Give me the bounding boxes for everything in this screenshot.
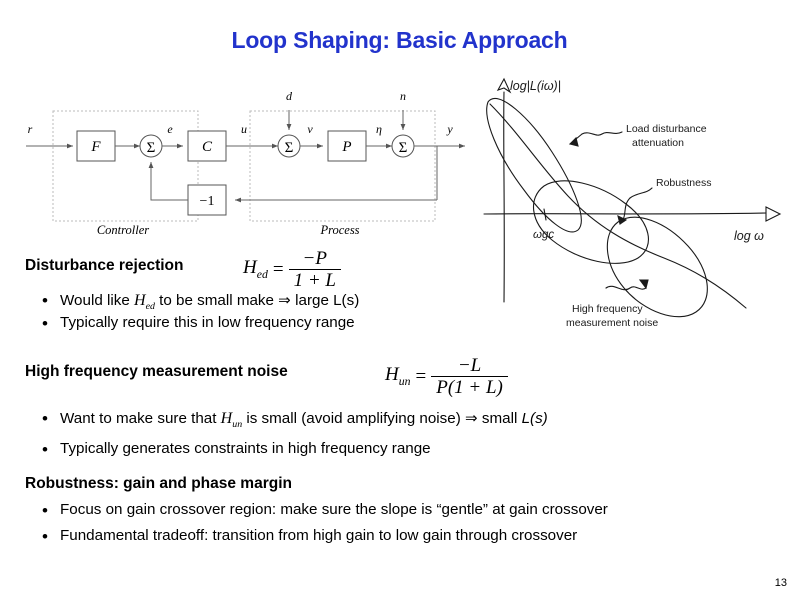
formula-h-un-lhs: Hun [385,364,411,389]
annotation-robustness: Robustness [656,177,711,189]
bullet-1-pre: Would like [60,292,134,309]
list-item-text: Focus on gain crossover region: make sur… [42,501,608,518]
formula-h-un-denominator: P(1 + L) [431,376,508,398]
signal-label-d: d [286,89,293,103]
signal-label-eta: η [376,122,382,136]
sum-symbol-2: Σ [285,140,294,156]
signal-label-r: r [28,122,33,136]
page-number: 13 [775,577,787,589]
list-item-text: Want to make sure that Hun is small (avo… [42,409,548,430]
signal-label-n: n [400,89,406,103]
bullet-3-variable: Hun [221,410,242,427]
signal-label-y: y [446,122,453,136]
signal-label-e: e [167,122,173,136]
bode-y-axis-label: log|L(iω)| [510,79,561,93]
group-label-process: Process [319,223,359,237]
block-label-F: F [90,139,101,155]
list-item: • Typically generates constraints in hig… [42,440,431,457]
list-item-text: Typically require this in low frequency … [42,314,355,331]
list-item-text: Typically generates constraints in high … [42,440,431,457]
hand-drawn-loop-gain-sketch: log|L(iω)| log ω ωgc Load disturbance at… [478,74,796,334]
section-heading-hf-measurement-noise: High frequency measurement noise [25,363,288,381]
bullet-icon: • [42,315,48,332]
formula-h-ed: Hed= −P 1 + L [243,248,341,292]
list-item: • Would like Hed to be small make ⇒ larg… [42,291,359,312]
list-item-text: Fundamental tradeoff: transition from hi… [42,527,577,544]
formula-h-ed-numerator: −P [289,248,341,269]
section-heading-disturbance-rejection: Disturbance rejection [25,257,184,275]
formula-h-ed-equals: = [268,259,289,281]
annotation-hf-noise-line2: measurement noise [566,317,658,329]
bullet-icon: • [42,410,48,427]
formula-h-un-numerator: −L [431,355,508,376]
bullet-3-pre: Want to make sure that [60,410,221,427]
formula-h-ed-fraction: −P 1 + L [289,248,341,292]
formula-h-un-fraction: −L P(1 + L) [431,355,508,399]
list-item: • Want to make sure that Hun is small (a… [42,409,548,430]
bullet-icon: • [42,502,48,519]
list-item: • Focus on gain crossover region: make s… [42,501,608,518]
formula-h-un-equals: = [411,366,432,388]
bullet-icon: • [42,292,48,309]
signal-label-u: u [241,122,247,136]
section-heading-robustness: Robustness: gain and phase margin [25,475,292,493]
formula-h-ed-denominator: 1 + L [289,269,341,291]
formula-h-un: Hun= −L P(1 + L) [385,355,508,399]
feedback-control-block-diagram: r F Σ e C u d Σ ν P η n Σ y −1 Controlle… [10,78,480,238]
signal-label-nu: ν [307,122,313,136]
annotation-load-disturbance-line1: Load disturbance [626,123,707,135]
page-title: Loop Shaping: Basic Approach [0,27,799,54]
sum-symbol-3: Σ [399,140,408,156]
bode-crossover-label: ωgc [533,229,554,241]
annotation-load-disturbance-line2: attenuation [632,137,684,149]
group-label-controller: Controller [97,223,149,237]
bullet-1-variable: Hed [134,292,155,309]
bullet-icon: • [42,528,48,545]
bullet-icon: • [42,441,48,458]
block-label-C: C [202,139,213,155]
formula-h-ed-lhs: Hed [243,257,268,282]
list-item: • Typically require this in low frequenc… [42,314,355,331]
bode-x-axis-label: log ω [734,229,764,243]
block-label-P: P [341,139,351,155]
bullet-3-mid: is small (avoid amplifying noise) ⇒ smal… [242,410,521,427]
list-item: • Fundamental tradeoff: transition from … [42,527,577,544]
sum-symbol-1: Σ [147,140,156,156]
bullet-3-italic: L(s) [522,410,548,427]
list-item-text: Would like Hed to be small make ⇒ large … [42,291,359,312]
slide-canvas: Loop Shaping: Basic Approach [0,0,799,599]
bullet-1-post: to be small make ⇒ large L(s) [155,292,359,309]
block-label-minus-one: −1 [200,194,215,209]
annotation-hf-noise-line1: High frequency [572,303,643,315]
